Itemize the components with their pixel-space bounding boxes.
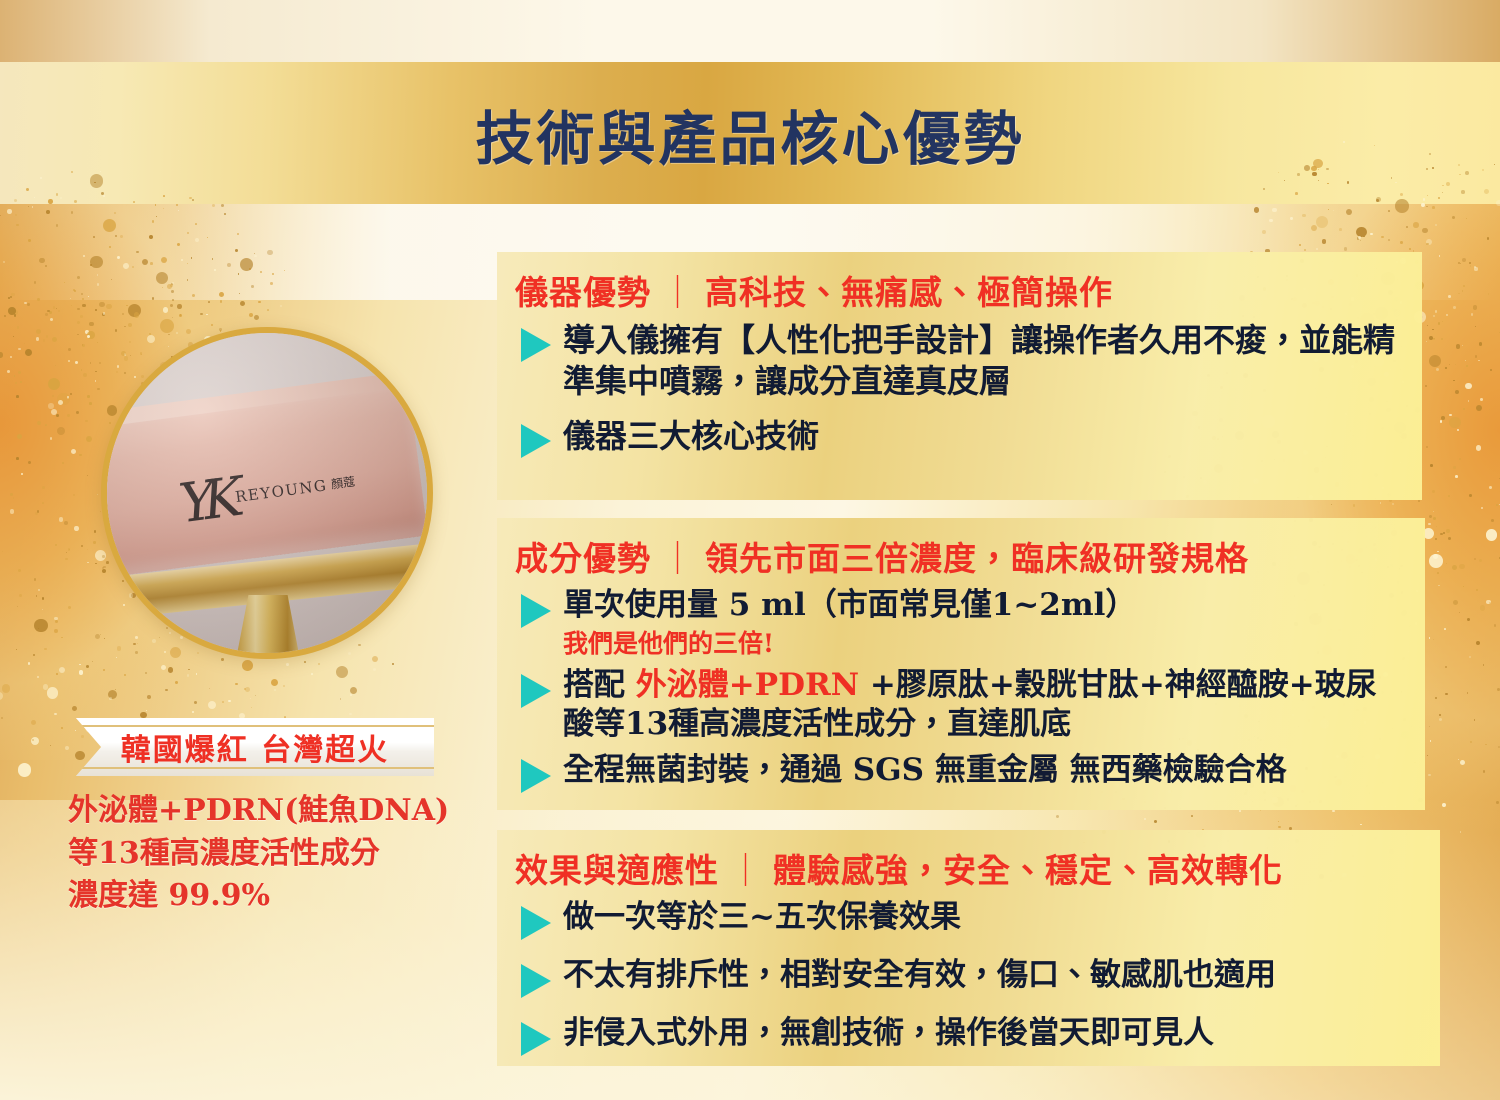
bullet-item: 全程無菌封裝，通過 SGS 無重金屬 無西藥檢驗合格 [515, 751, 1401, 793]
ribbon-banner: 韓國爆紅 台灣超火 [76, 718, 434, 776]
bullet-text: 做一次等於三~五次保養效果 [563, 898, 961, 938]
ribbon-label: 韓國爆紅 台灣超火 [121, 725, 389, 769]
panel-2-heading: 成分優勢｜領先市面三倍濃度，臨床級研發規格 [515, 532, 1401, 580]
bullet-item: 儀器三大核心技術 [515, 416, 1398, 458]
panel-2-heading-label: 成分優勢 [515, 539, 651, 578]
left-note-line: 濃度達 99.9% [68, 875, 488, 918]
panel-1-heading-separator: ｜ [651, 273, 705, 312]
bullet-text-main: 儀器三大核心技術 [563, 417, 819, 455]
bullet-text-main: 全程無菌封裝，通過 SGS 無重金屬 無西藥檢驗合格 [563, 752, 1287, 788]
bullet-text-main: 單次使用量 5 ml（市面常見僅1~2ml） [563, 587, 1136, 623]
bullet-item: 非侵入式外用，無創技術，操作後當天即可見人 [515, 1014, 1416, 1056]
photo-vignette [107, 333, 427, 653]
bullet-item: 搭配 外泌體+PDRN +膠原肽+穀胱甘肽+神經醯胺+玻尿酸等13種高濃度活性成… [515, 666, 1401, 745]
triangle-bullet-icon [521, 424, 551, 458]
left-note-line: 等13種高濃度活性成分 [68, 833, 488, 876]
panel-2-heading-value: 領先市面三倍濃度，臨床級研發規格 [705, 539, 1249, 578]
panel-3-bullet-list: 做一次等於三~五次保養效果不太有排斥性，相對安全有效，傷口、敏感肌也適用非侵入式… [515, 898, 1416, 1056]
bullet-item: 做一次等於三~五次保養效果 [515, 898, 1416, 940]
triangle-bullet-icon [521, 328, 551, 362]
bullet-text-main: 不太有排斥性，相對安全有效，傷口、敏感肌也適用 [563, 957, 1276, 993]
bullet-subtext: 我們是他們的三倍! [563, 628, 1136, 660]
bullet-text: 儀器三大核心技術 [563, 416, 819, 457]
bullet-item: 不太有排斥性，相對安全有效，傷口、敏感肌也適用 [515, 956, 1416, 998]
bullet-text-main: 非侵入式外用，無創技術，操作後當天即可見人 [563, 1015, 1214, 1051]
panel-1-heading: 儀器優勢｜高科技、無痛感、極簡操作 [515, 266, 1398, 314]
left-highlight-note: 外泌體+PDRN(鮭魚DNA)等13種高濃度活性成分濃度達 99.9% [68, 790, 488, 918]
panel-3-heading-separator: ｜ [719, 851, 773, 890]
bullet-text: 全程無菌封裝，通過 SGS 無重金屬 無西藥檢驗合格 [563, 751, 1287, 791]
bullet-item: 導入儀擁有【人性化把手設計】讓操作者久用不痠，並能精準集中噴霧，讓成分直達真皮層 [515, 320, 1398, 402]
panel-2-heading-separator: ｜ [651, 539, 705, 578]
bullet-item: 單次使用量 5 ml（市面常見僅1~2ml）我們是他們的三倍! [515, 586, 1401, 660]
panel-ingredient-advantages: 成分優勢｜領先市面三倍濃度，臨床級研發規格 單次使用量 5 ml（市面常見僅1~… [497, 518, 1425, 810]
bullet-text-main: 導入儀擁有【人性化把手設計】讓操作者久用不痠，並能精準集中噴霧，讓成分直達真皮層 [563, 321, 1395, 400]
bullet-text-highlight: 外泌體+PDRN [636, 667, 859, 703]
bullet-text: 搭配 外泌體+PDRN +膠原肽+穀胱甘肽+神經醯胺+玻尿酸等13種高濃度活性成… [563, 666, 1401, 745]
bullet-text: 不太有排斥性，相對安全有效，傷口、敏感肌也適用 [563, 956, 1276, 996]
triangle-bullet-icon [521, 594, 551, 628]
triangle-bullet-icon [521, 674, 551, 708]
panel-1-heading-label: 儀器優勢 [515, 273, 651, 312]
page-title: 技術與產品核心優勢 [0, 92, 1500, 176]
panel-2-bullet-list: 單次使用量 5 ml（市面常見僅1~2ml）我們是他們的三倍!搭配 外泌體+PD… [515, 586, 1401, 793]
poster-root: 技術與產品核心優勢 YK REYOUNG 顏蔻 韓國爆紅 台灣超火 外泌體+PD… [0, 0, 1500, 1100]
bullet-text: 單次使用量 5 ml（市面常見僅1~2ml）我們是他們的三倍! [563, 586, 1136, 660]
panel-3-heading-label: 效果與適應性 [515, 851, 719, 890]
triangle-bullet-icon [521, 759, 551, 793]
bullet-text: 非侵入式外用，無創技術，操作後當天即可見人 [563, 1014, 1214, 1054]
bullet-text-prefix: 搭配 [563, 667, 636, 703]
panel-1-heading-value: 高科技、無痛感、極簡操作 [705, 273, 1113, 312]
triangle-bullet-icon [521, 964, 551, 998]
product-photo: YK REYOUNG 顏蔻 [101, 327, 433, 659]
panel-3-heading-value: 體驗感強，安全、穩定、高效轉化 [773, 851, 1283, 890]
panel-1-bullet-list: 導入儀擁有【人性化把手設計】讓操作者久用不痠，並能精準集中噴霧，讓成分直達真皮層… [515, 320, 1398, 458]
triangle-bullet-icon [521, 1022, 551, 1056]
panel-3-heading: 效果與適應性｜體驗感強，安全、穩定、高效轉化 [515, 844, 1416, 892]
bullet-text: 導入儀擁有【人性化把手設計】讓操作者久用不痠，並能精準集中噴霧，讓成分直達真皮層 [563, 320, 1398, 402]
panel-device-advantages: 儀器優勢｜高科技、無痛感、極簡操作 導入儀擁有【人性化把手設計】讓操作者久用不痠… [497, 252, 1422, 500]
panel-effects-indications: 效果與適應性｜體驗感強，安全、穩定、高效轉化 做一次等於三~五次保養效果不太有排… [497, 830, 1440, 1066]
left-note-line: 外泌體+PDRN(鮭魚DNA) [68, 790, 488, 833]
triangle-bullet-icon [521, 906, 551, 940]
bullet-text-main: 做一次等於三~五次保養效果 [563, 899, 961, 935]
product-photo-image: YK REYOUNG 顏蔻 [107, 333, 427, 653]
background-strip-top [0, 0, 1500, 62]
